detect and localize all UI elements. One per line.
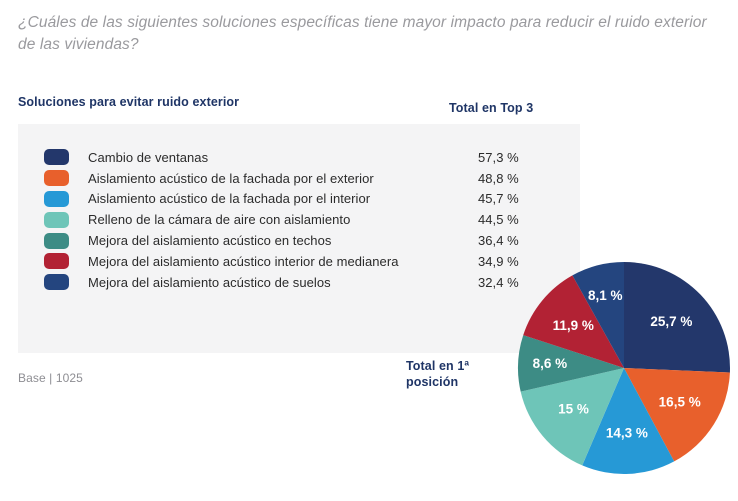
legend-item: Relleno de la cámara de aire con aislami… xyxy=(44,209,544,230)
legend-color-swatch xyxy=(44,191,69,207)
pie-slice-label: 8,6 % xyxy=(533,356,568,371)
legend-color-swatch xyxy=(44,233,69,249)
legend-item: Mejora del aislamiento acústico de suelo… xyxy=(44,272,544,293)
pie-slice-label: 8,1 % xyxy=(588,288,623,303)
legend-item: Mejora del aislamiento acústico interior… xyxy=(44,251,544,272)
top3-column-header: Total en Top 3 xyxy=(449,101,533,115)
pie-slice-label: 25,7 % xyxy=(650,314,692,329)
legend-list: Cambio de ventanas57,3 %Aislamiento acús… xyxy=(44,147,544,293)
legend-column-header: Soluciones para evitar ruido exterior xyxy=(18,95,239,109)
legend-item-label: Mejora del aislamiento acústico interior… xyxy=(88,254,398,269)
legend-color-swatch xyxy=(44,149,69,165)
legend-item-label: Aislamiento acústico de la fachada por e… xyxy=(88,191,370,206)
legend-item-value: 32,4 % xyxy=(478,275,519,290)
legend-color-swatch xyxy=(44,274,69,290)
legend-item-value: 45,7 % xyxy=(478,191,519,206)
pie-slice-label: 15 % xyxy=(558,402,589,417)
legend-item-value: 36,4 % xyxy=(478,233,519,248)
pie-chart-svg: 25,7 %16,5 %14,3 %15 %8,6 %11,9 %8,1 % xyxy=(518,262,730,474)
legend-item-value: 57,3 % xyxy=(478,150,519,165)
legend-color-swatch xyxy=(44,212,69,228)
legend-item-label: Relleno de la cámara de aire con aislami… xyxy=(88,212,350,227)
legend-item-value: 44,5 % xyxy=(478,212,519,227)
legend-item-value: 48,8 % xyxy=(478,171,519,186)
legend-item-label: Mejora del aislamiento acústico de suelo… xyxy=(88,275,331,290)
infographic-root: ¿Cuáles de las siguientes soluciones esp… xyxy=(0,0,738,501)
legend-item-label: Aislamiento acústico de la fachada por e… xyxy=(88,171,374,186)
legend-item: Cambio de ventanas57,3 % xyxy=(44,147,544,168)
pie-chart: 25,7 %16,5 %14,3 %15 %8,6 %11,9 %8,1 % xyxy=(518,262,730,474)
question-title: ¿Cuáles de las siguientes soluciones esp… xyxy=(18,12,708,57)
legend-color-swatch xyxy=(44,253,69,269)
legend-item: Aislamiento acústico de la fachada por e… xyxy=(44,189,544,210)
legend-item-label: Cambio de ventanas xyxy=(88,150,208,165)
base-note: Base | 1025 xyxy=(18,371,83,385)
first-position-column-header: Total en 1ª posición xyxy=(406,359,516,390)
legend-item-label: Mejora del aislamiento acústico en techo… xyxy=(88,233,331,248)
legend-item: Mejora del aislamiento acústico en techo… xyxy=(44,230,544,251)
legend-item: Aislamiento acústico de la fachada por e… xyxy=(44,168,544,189)
legend-color-swatch xyxy=(44,170,69,186)
pie-slice-label: 16,5 % xyxy=(659,394,701,409)
pie-slice-label: 11,9 % xyxy=(553,318,594,333)
legend-item-value: 34,9 % xyxy=(478,254,519,269)
pie-slice-label: 14,3 % xyxy=(606,425,648,440)
